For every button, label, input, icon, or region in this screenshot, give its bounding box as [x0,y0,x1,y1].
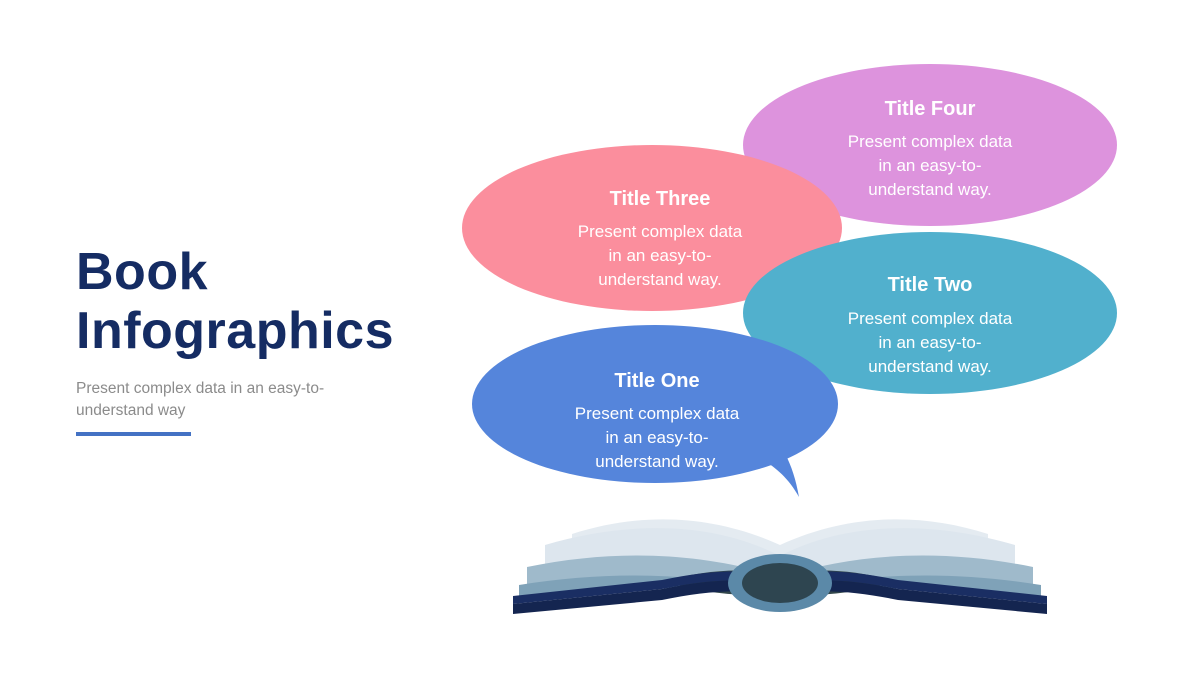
bubble-title-four-line-3: understand way. [868,180,991,199]
slide-canvas: Book Infographics Present complex data i… [0,0,1200,675]
bubble-title-two-title: Title Two [888,274,973,296]
bubble-title-one[interactable]: Title One Present complex data in an eas… [472,325,838,497]
infographic-graphic: Title Four Present complex data in an ea… [0,0,1200,675]
infographic-svg: Title Four Present complex data in an ea… [0,0,1200,675]
bubble-title-three-title: Title Three [610,188,711,210]
bubble-title-one-line-1: Present complex data [575,404,740,423]
bubble-title-two-line-2: in an easy-to- [879,333,982,352]
bubble-title-two-line-1: Present complex data [848,309,1013,328]
bubble-title-one-title: Title One [614,370,699,392]
bubble-title-one-line-3: understand way. [595,452,718,471]
open-book-illustration [513,519,1047,614]
bubble-title-four-line-2: in an easy-to- [879,156,982,175]
book-spine-inner [742,563,818,603]
bubble-title-one-line-2: in an easy-to- [606,428,709,447]
bubble-title-three-line-3: understand way. [598,270,721,289]
bubble-title-three-line-1: Present complex data [578,222,743,241]
bubble-title-two-line-3: understand way. [868,357,991,376]
bubble-title-four-line-1: Present complex data [848,132,1013,151]
bubble-title-three-line-2: in an easy-to- [609,246,712,265]
bubble-title-four-title: Title Four [885,98,976,120]
